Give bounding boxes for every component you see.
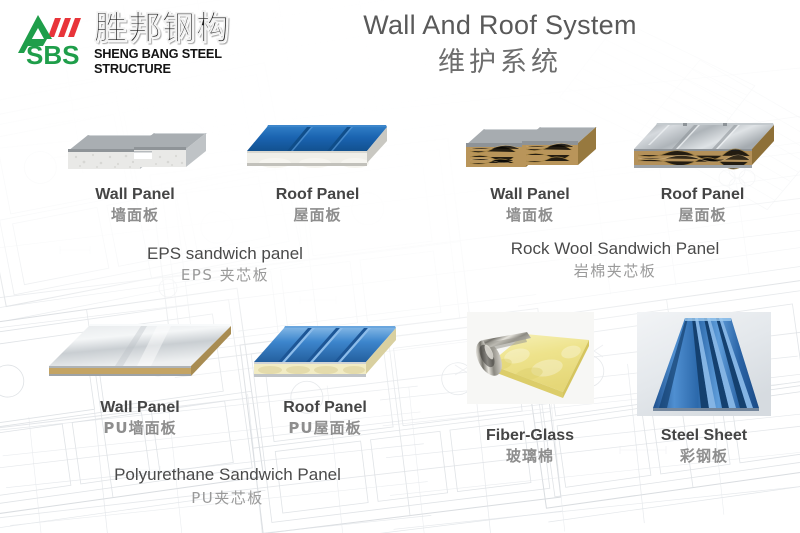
product-steel-sheet[interactable]: Steel Sheet 彩钢板	[616, 312, 792, 467]
pu-wall-panel-image	[40, 318, 240, 388]
steel-sheet-image	[637, 312, 771, 416]
product-group-eps: Wall Panel 墙面板	[40, 105, 410, 285]
product-label-en: Steel Sheet	[616, 426, 792, 446]
product-label-cn: PU墙面板	[40, 418, 240, 439]
page-title: Wall And Roof System 维护系统	[300, 8, 700, 81]
product-label-en: Wall Panel	[450, 185, 610, 205]
fiberglass-roll-image	[467, 312, 594, 404]
group-title-en: Rock Wool Sandwich Panel	[440, 238, 790, 260]
logo-english-name: SHENG BANG STEEL STRUCTURE	[94, 47, 278, 77]
product-pu-roof-panel[interactable]: Roof Panel PU屋面板	[235, 318, 415, 439]
group-title-cn: EPS 夹芯板	[40, 265, 410, 286]
pu-roof-panel-image	[235, 318, 415, 388]
group-title-en: Polyurethane Sandwich Panel	[40, 464, 415, 486]
product-label-cn: 墙面板	[50, 205, 220, 226]
product-label-cn: 玻璃棉	[440, 446, 620, 467]
product-fiberglass[interactable]: Fiber-Glass 玻璃棉	[440, 312, 620, 467]
group-title-en: EPS sandwich panel	[40, 243, 410, 265]
product-label-cn: 屋面板	[230, 205, 405, 226]
svg-text:SBS: SBS	[26, 40, 79, 69]
product-label-en: Roof Panel	[230, 185, 405, 205]
product-label-cn: PU屋面板	[235, 418, 415, 439]
product-label-en: Wall Panel	[40, 398, 240, 418]
product-label-cn: 彩钢板	[616, 446, 792, 467]
slide-root: SBS 胜邦钢构 SHENG BANG STEEL STRUCTURE Wall…	[0, 0, 800, 533]
company-logo: SBS 胜邦钢构 SHENG BANG STEEL STRUCTURE	[8, 6, 276, 72]
product-label-cn: 屋面板	[620, 205, 785, 226]
product-pu-wall-panel[interactable]: Wall Panel PU墙面板	[40, 318, 240, 439]
group-title-cn: PU夹芯板	[40, 488, 415, 509]
product-eps-wall-panel[interactable]: Wall Panel 墙面板	[50, 105, 220, 226]
eps-wall-panel-image	[50, 105, 220, 177]
product-label-en: Roof Panel	[235, 398, 415, 418]
product-eps-roof-panel[interactable]: Roof Panel 屋面板	[230, 105, 405, 226]
product-label-en: Wall Panel	[50, 185, 220, 205]
product-group-materials: Fiber-Glass 玻璃棉	[440, 312, 790, 492]
product-rockwool-roof-panel[interactable]: Roof Panel 屋面板	[620, 105, 785, 226]
product-label-en: Roof Panel	[620, 185, 785, 205]
rockwool-roof-panel-image	[620, 105, 785, 177]
rockwool-wall-panel-image	[450, 105, 610, 177]
group-title-cn: 岩棉夹芯板	[440, 261, 790, 282]
logo-chinese-name: 胜邦钢构	[94, 9, 274, 47]
page-title-english: Wall And Roof System	[300, 8, 700, 42]
eps-roof-panel-image	[230, 105, 405, 177]
page-title-chinese: 维护系统	[300, 45, 700, 81]
product-label-cn: 墙面板	[450, 205, 610, 226]
product-rockwool-wall-panel[interactable]: Wall Panel 墙面板	[450, 105, 610, 226]
sbs-logo-mark-icon: SBS	[8, 9, 92, 69]
product-group-pu: Wall Panel PU墙面板	[40, 318, 415, 508]
product-label-en: Fiber-Glass	[440, 426, 620, 446]
product-group-rockwool: Wall Panel 墙面板	[440, 105, 790, 285]
